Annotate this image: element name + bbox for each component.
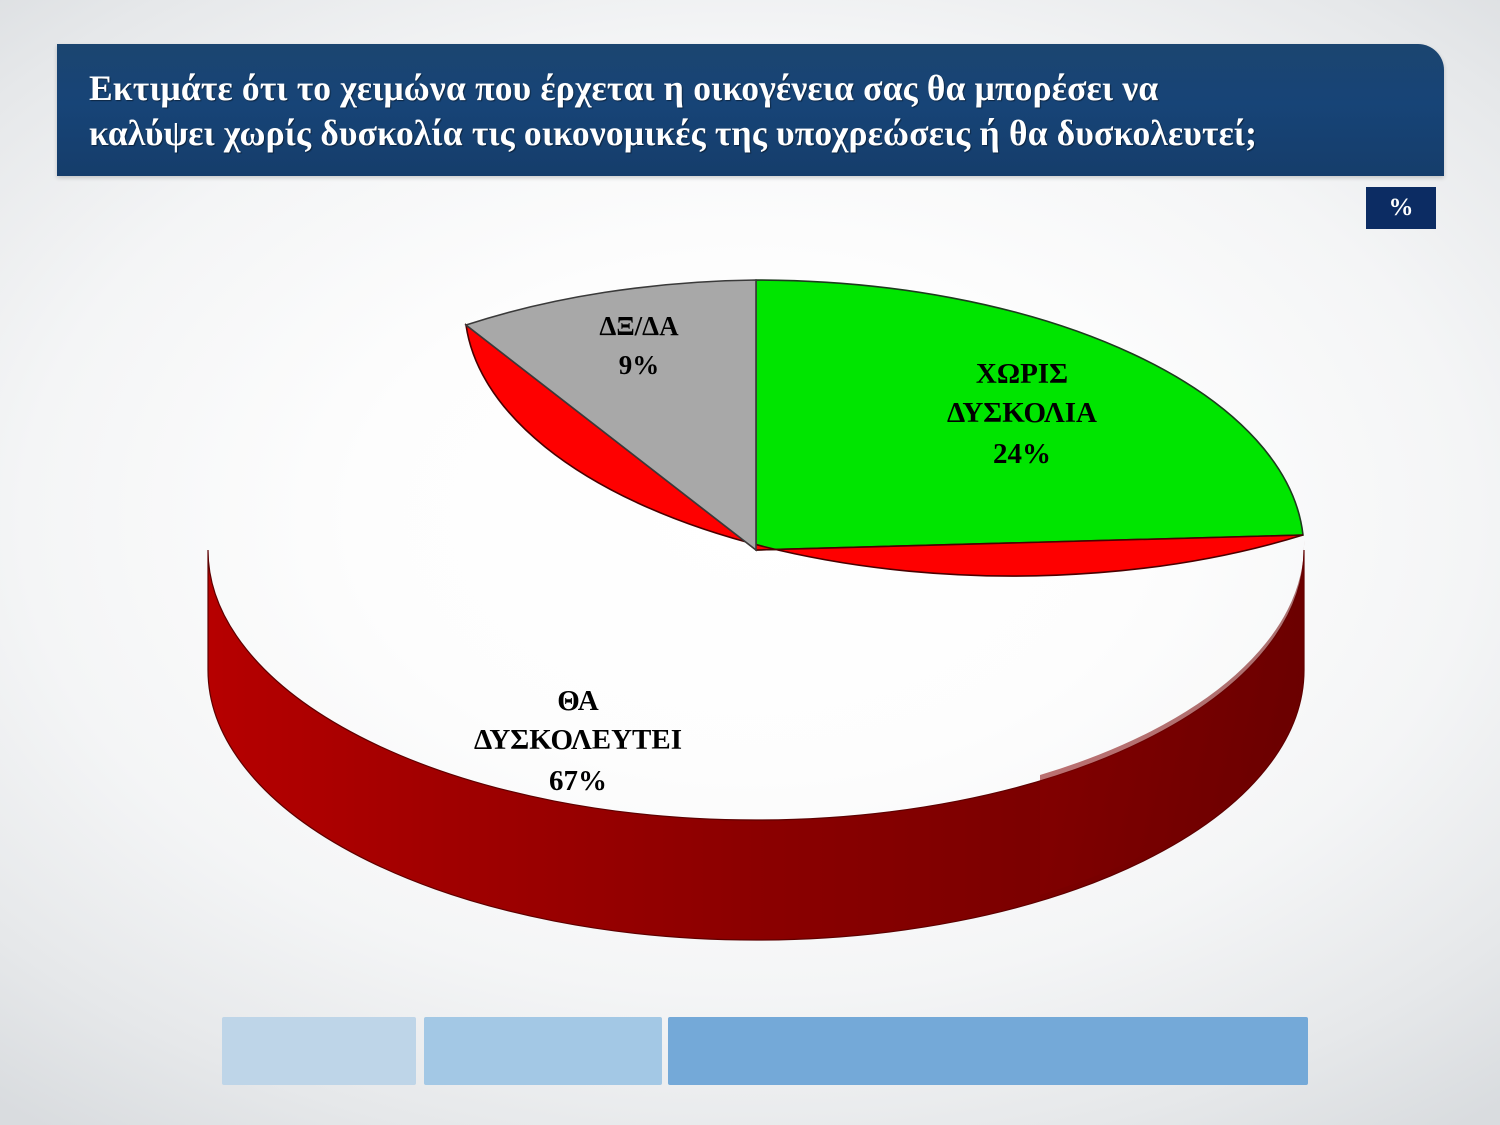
slice-value-label: 24% [993, 438, 1051, 470]
slice-label-line2: ΔΥΣΚΟΛΙΑ [947, 397, 1097, 429]
pie-chart-svg: ΧΩΡΙΣ ΔΥΣΚΟΛΙΑ 24% ΘΑ ΔΥΣΚΟΛΕΥΤΕΙ 67% ΔΞ… [0, 230, 1500, 990]
slice-label-line1: ΧΩΡΙΣ [976, 358, 1068, 390]
slice-label-line1: ΘΑ [557, 685, 598, 717]
slice-value-label: 67% [549, 765, 607, 797]
footer-bar-2 [424, 1017, 662, 1085]
slice-label-line1: ΔΞ/ΔΑ [599, 311, 679, 341]
footer-bar-3 [668, 1017, 1308, 1085]
slice-value-label: 9% [619, 350, 660, 380]
percent-unit-badge: % [1366, 187, 1436, 229]
slide-root: Εκτιμάτε ότι το χειμώνα που έρχεται η οι… [0, 0, 1500, 1125]
slice-label-tha-dyskoleytei: ΘΑ ΔΥΣΚΟΛΕΥΤΕΙ 67% [474, 685, 682, 797]
footer: OPEN ΕΡΕΥΝΑ alco The pulse of society [0, 1005, 1500, 1125]
slice-label-line2: ΔΥΣΚΟΛΕΥΤΕΙ [474, 724, 682, 756]
page-title: Εκτιμάτε ότι το χειμώνα που έρχεται η οι… [89, 66, 1414, 155]
title-bar: Εκτιμάτε ότι το χειμώνα που έρχεται η οι… [57, 44, 1444, 176]
pie-chart: ΧΩΡΙΣ ΔΥΣΚΟΛΙΑ 24% ΘΑ ΔΥΣΚΟΛΕΥΤΕΙ 67% ΔΞ… [0, 230, 1500, 990]
footer-bar-1 [222, 1017, 416, 1085]
